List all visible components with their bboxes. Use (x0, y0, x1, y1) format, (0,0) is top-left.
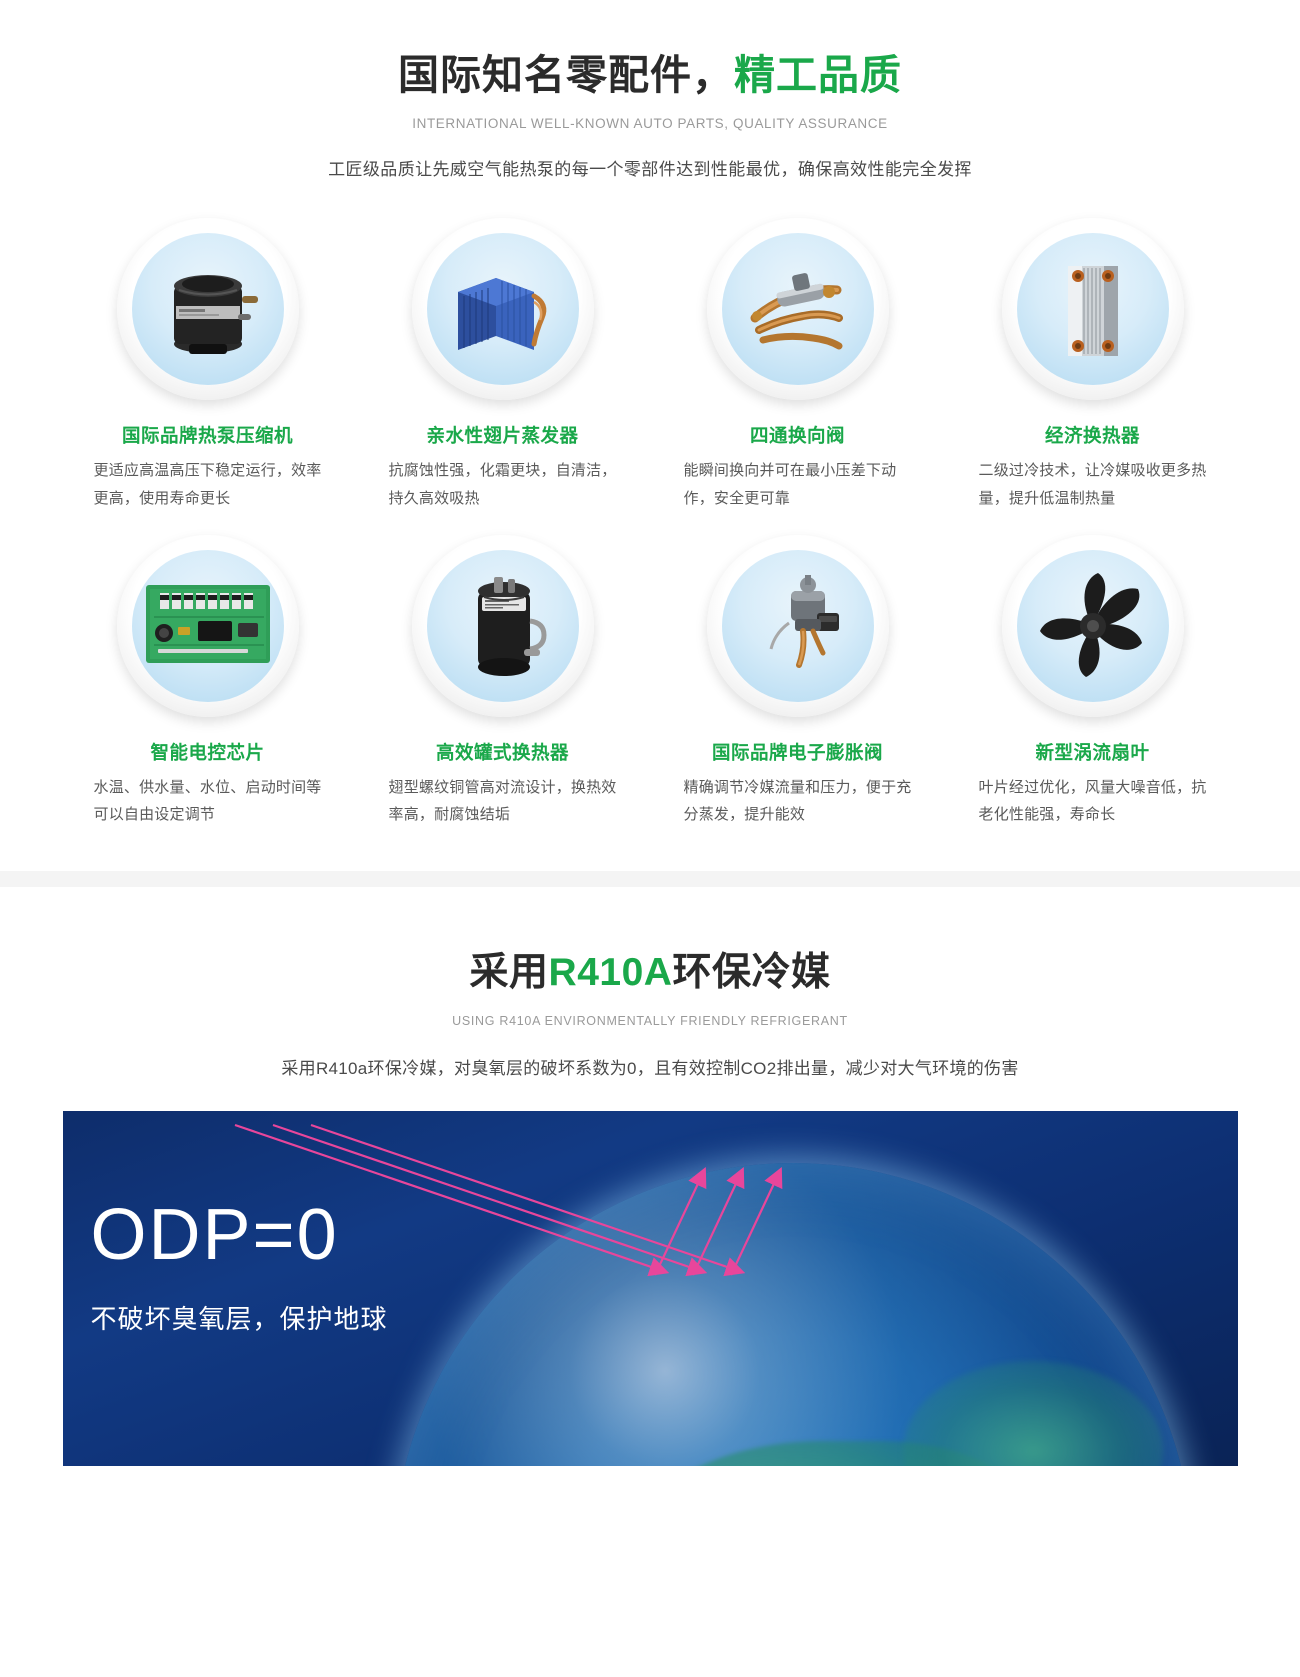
feature-title: 国际品牌热泵压缩机 (122, 422, 293, 448)
feature-image-inner (1017, 550, 1169, 702)
feature-image-frame (1002, 218, 1184, 400)
refrigerant-lead-text: 采用R410a环保冷媒，对臭氧层的破坏系数为0，且有效控制CO2排出量，减少对大… (0, 1054, 1300, 1079)
feature-item: 新型涡流扇叶 叶片经过优化，风量大噪音低，抗老化性能强，寿命长 (945, 535, 1240, 830)
feature-image-frame (707, 535, 889, 717)
feature-title: 国际品牌电子膨胀阀 (712, 739, 883, 765)
control-board-icon (138, 571, 278, 681)
page-title-main: 国际知名零配件， (398, 52, 734, 98)
feature-description: 二级过冷技术，让冷媒吸收更多热量，提升低温制热量 (979, 457, 1207, 513)
feature-description: 能瞬间换向并可在最小压差下动作，安全更可靠 (684, 457, 912, 513)
feature-description: 精确调节冷媒流量和压力，便于充分蒸发，提升能效 (684, 774, 912, 830)
refrigerant-title: 采用R410A环保冷媒 (0, 941, 1300, 997)
refrigerant-subtitle-english: USING R410A ENVIRONMENTALLY FRIENDLY REF… (0, 1014, 1300, 1028)
finned-evaporator-icon (438, 244, 568, 374)
banner-text-block: ODP=0 不破坏臭氧层，保护地球 (91, 1199, 388, 1336)
feature-image-frame (117, 218, 299, 400)
feature-image-inner (132, 550, 284, 702)
expansion-valve-icon (733, 561, 863, 691)
feature-title: 亲水性翅片蒸发器 (426, 422, 578, 448)
feature-image-inner (132, 233, 284, 385)
odp-caption: 不破坏臭氧层，保护地球 (91, 1299, 388, 1336)
feature-item: 高效罐式换热器 翅型螺纹铜管高对流设计，换热效率高，耐腐蚀结垢 (355, 535, 650, 830)
feature-item: 国际品牌电子膨胀阀 精确调节冷媒流量和压力，便于充分蒸发，提升能效 (650, 535, 945, 830)
page-title-accent: 精工品质 (734, 52, 902, 98)
feature-image-frame (1002, 535, 1184, 717)
feature-title: 新型涡流扇叶 (1035, 739, 1149, 765)
feature-title: 高效罐式换热器 (436, 739, 569, 765)
odp-banner: ODP=0 不破坏臭氧层，保护地球 (63, 1111, 1238, 1466)
refrigerant-title-suffix: 环保冷媒 (672, 951, 830, 994)
odp-headline: ODP=0 (91, 1199, 388, 1271)
feature-image-frame (412, 218, 594, 400)
feature-image-frame (117, 535, 299, 717)
feature-item: 经济换热器 二级过冷技术，让冷媒吸收更多热量，提升低温制热量 (945, 218, 1240, 513)
feature-title: 经济换热器 (1045, 422, 1140, 448)
tank-heat-exchanger-icon (438, 561, 568, 691)
feature-image-frame (707, 218, 889, 400)
feature-description: 更适应高温高压下稳定运行，效率更高，使用寿命更长 (94, 457, 322, 513)
refrigerant-title-prefix: 采用 (470, 951, 549, 994)
feature-description: 翅型螺纹铜管高对流设计，换热效率高，耐腐蚀结垢 (389, 774, 617, 830)
four-way-valve-icon (733, 244, 863, 374)
feature-item: 国际品牌热泵压缩机 更适应高温高压下稳定运行，效率更高，使用寿命更长 (60, 218, 355, 513)
feature-item: 亲水性翅片蒸发器 抗腐蚀性强，化霜更块，自清洁，持久高效吸热 (355, 218, 650, 513)
refrigerant-section: 采用R410A环保冷媒 USING R410A ENVIRONMENTALLY … (0, 887, 1300, 1466)
feature-image-inner (427, 233, 579, 385)
section-divider (0, 871, 1300, 887)
feature-image-inner (722, 233, 874, 385)
fan-blade-icon (1026, 559, 1160, 693)
page-title: 国际知名零配件，精工品质 (0, 52, 1300, 99)
feature-title: 智能电控芯片 (150, 739, 264, 765)
feature-image-inner (722, 550, 874, 702)
feature-title: 四通换向阀 (750, 422, 845, 448)
feature-image-frame (412, 535, 594, 717)
feature-description: 水温、供水量、水位、启动时间等可以自由设定调节 (94, 774, 322, 830)
international-parts-section: 国际知名零配件，精工品质 INTERNATIONAL WELL-KNOWN AU… (0, 0, 1300, 851)
feature-grid: 国际品牌热泵压缩机 更适应高温高压下稳定运行，效率更高，使用寿命更长 (60, 180, 1240, 851)
page-lead-text: 工匠级品质让先威空气能热泵的每一个零部件达到性能最优，确保高效性能完全发挥 (0, 155, 1300, 180)
feature-image-inner (427, 550, 579, 702)
feature-image-inner (1017, 233, 1169, 385)
feature-description: 抗腐蚀性强，化霜更块，自清洁，持久高效吸热 (389, 457, 617, 513)
refrigerant-title-accent: R410A (549, 951, 673, 994)
feature-description: 叶片经过优化，风量大噪音低，抗老化性能强，寿命长 (979, 774, 1207, 830)
feature-item: 四通换向阀 能瞬间换向并可在最小压差下动作，安全更可靠 (650, 218, 945, 513)
section-header: 国际知名零配件，精工品质 INTERNATIONAL WELL-KNOWN AU… (0, 52, 1300, 180)
feature-item: 智能电控芯片 水温、供水量、水位、启动时间等可以自由设定调节 (60, 535, 355, 830)
plate-heat-exchanger-icon (1028, 244, 1158, 374)
compressor-icon (143, 244, 273, 374)
page-subtitle-english: INTERNATIONAL WELL-KNOWN AUTO PARTS, QUA… (0, 116, 1300, 131)
